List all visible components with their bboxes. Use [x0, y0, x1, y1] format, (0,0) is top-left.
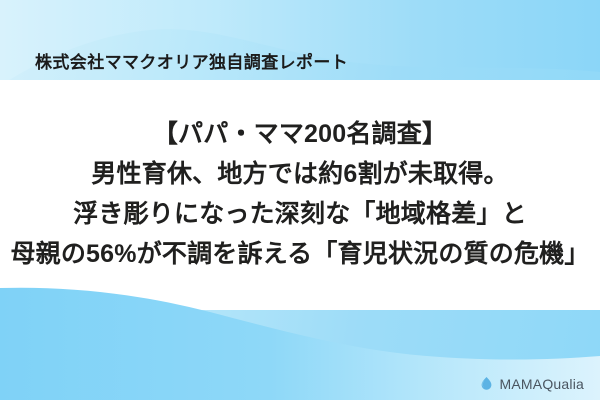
headline-line-1: 【パパ・ママ200名調査】 — [0, 114, 600, 154]
report-slide: 株式会社ママクオリア独自調査レポート 【パパ・ママ200名調査】 男性育休、地方… — [0, 0, 600, 400]
brand-logo: MAMAQualia — [479, 376, 584, 391]
headline-block: 【パパ・ママ200名調査】 男性育休、地方では約6割が未取得。 浮き彫りになった… — [0, 114, 600, 274]
headline-line-2: 男性育休、地方では約6割が未取得。 — [0, 154, 600, 194]
company-report-label: 株式会社ママクオリア独自調査レポート — [35, 52, 348, 74]
headline-line-3: 浮き彫りになった深刻な「地域格差」と — [0, 194, 600, 234]
headline-line-4: 母親の56%が不調を訴える「育児状況の質の危機」 — [0, 234, 600, 274]
cloud-droplet-icon — [479, 376, 494, 391]
brand-name: MAMAQualia — [500, 377, 584, 391]
report-header: 株式会社ママクオリア独自調査レポート — [35, 52, 348, 74]
